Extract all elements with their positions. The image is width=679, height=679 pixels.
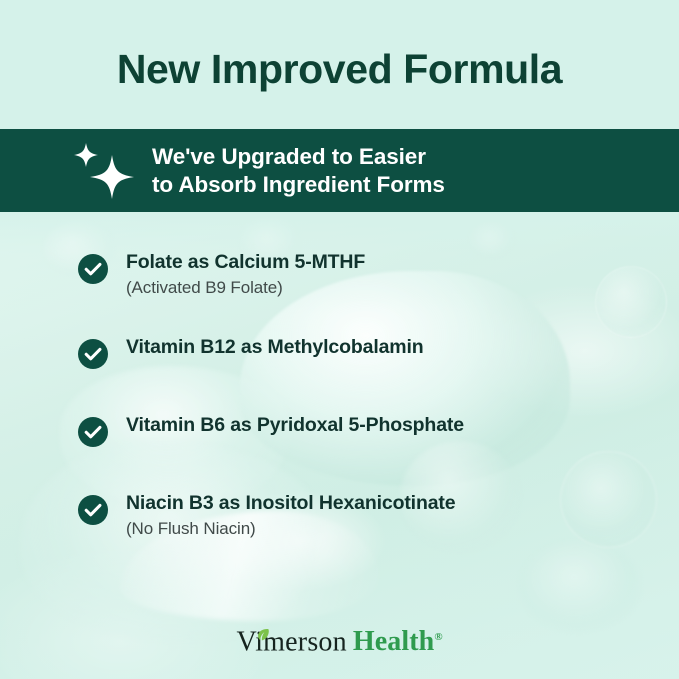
- registered-trademark-symbol: ®: [434, 631, 442, 643]
- brand-name-primary: Vimerson: [236, 626, 346, 657]
- product-feature-poster: New Improved Formula We've Upgraded to E…: [0, 0, 679, 679]
- banner-headline: We've Upgraded to Easier to Absorb Ingre…: [152, 143, 445, 199]
- list-item: Vitamin B12 as Methylcobalamin: [78, 335, 638, 377]
- list-item-title: Vitamin B12 as Methylcobalamin: [126, 335, 638, 360]
- banner-line-1: We've Upgraded to Easier: [152, 144, 426, 169]
- leaf-icon: [256, 617, 270, 631]
- list-item-title: Folate as Calcium 5-MTHF: [126, 250, 638, 275]
- list-item-subtitle: (Activated B9 Folate): [126, 276, 638, 299]
- upgrade-banner: We've Upgraded to Easier to Absorb Ingre…: [0, 129, 679, 212]
- brand-name-secondary: Health: [353, 626, 434, 657]
- list-item-subtitle: (No Flush Niacin): [126, 517, 638, 540]
- list-item: Folate as Calcium 5-MTHF (Activated B9 F…: [78, 250, 638, 299]
- check-circle-icon: [78, 495, 108, 525]
- list-item-title: Vitamin B6 as Pyridoxal 5-Phosphate: [126, 413, 638, 438]
- sparkle-icon: [68, 139, 148, 203]
- list-item: Niacin B3 as Inositol Hexanicotinate (No…: [78, 491, 638, 540]
- list-item-title: Niacin B3 as Inositol Hexanicotinate: [126, 491, 638, 516]
- check-circle-icon: [78, 254, 108, 284]
- ingredient-checklist: Folate as Calcium 5-MTHF (Activated B9 F…: [78, 250, 638, 576]
- page-title: New Improved Formula: [0, 44, 679, 94]
- banner-line-2: to Absorb Ingredient Forms: [152, 171, 445, 199]
- check-circle-icon: [78, 417, 108, 447]
- list-item: Vitamin B6 as Pyridoxal 5-Phosphate: [78, 413, 638, 455]
- brand-logo-wordmark: VimersonHealth®: [236, 620, 442, 659]
- check-circle-icon: [78, 339, 108, 369]
- brand-logo: VimersonHealth®: [0, 620, 679, 659]
